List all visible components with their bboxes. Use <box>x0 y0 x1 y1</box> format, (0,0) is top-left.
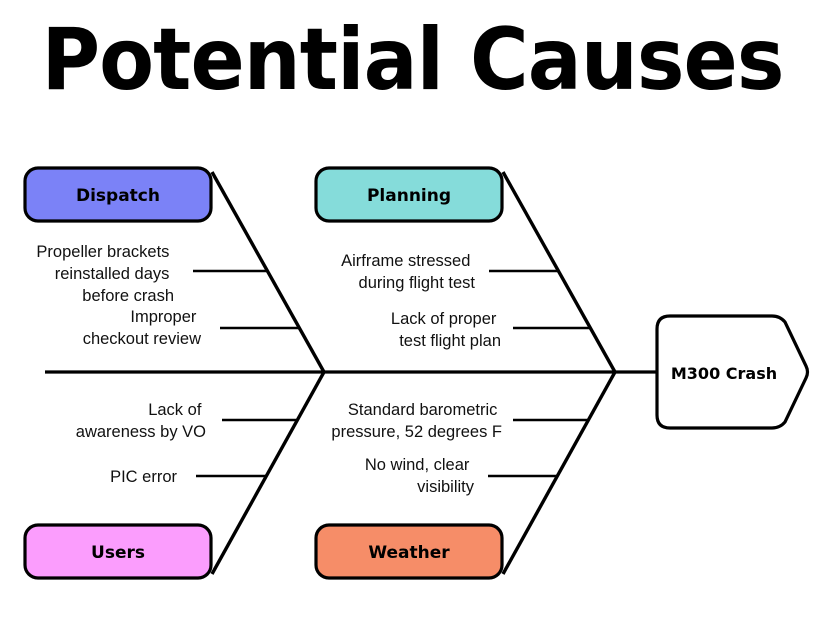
fishbone-diagram-page: Potential Causes M300 Crash Dispatch Pro… <box>0 0 825 628</box>
category-label-weather: Weather <box>368 543 450 563</box>
cause-text-dispatch-2: Improper checkout review <box>83 308 201 348</box>
diagram-canvas: M300 Crash Dispatch Propeller brackets r… <box>0 0 825 628</box>
branch-line-users <box>212 372 324 574</box>
cause-text-dispatch-1: Propeller brackets reinstalled days befo… <box>36 243 174 305</box>
cause-text-planning-2: Lack of proper test flight plan <box>391 310 501 350</box>
cause-text-weather-1: Standard barometric pressure, 52 degrees… <box>331 401 502 441</box>
category-label-dispatch: Dispatch <box>76 186 160 206</box>
effect-head-label: M300 Crash <box>671 364 777 383</box>
branch-line-weather <box>503 372 615 574</box>
category-label-planning: Planning <box>367 186 451 206</box>
cause-text-users-1: Lack of awareness by VO <box>76 401 206 441</box>
cause-text-weather-2: No wind, clear visibility <box>365 456 475 496</box>
cause-text-users-2: PIC error <box>110 468 177 486</box>
cause-text-planning-1: Airframe stressed during flight test <box>341 252 475 292</box>
category-label-users: Users <box>91 543 145 563</box>
